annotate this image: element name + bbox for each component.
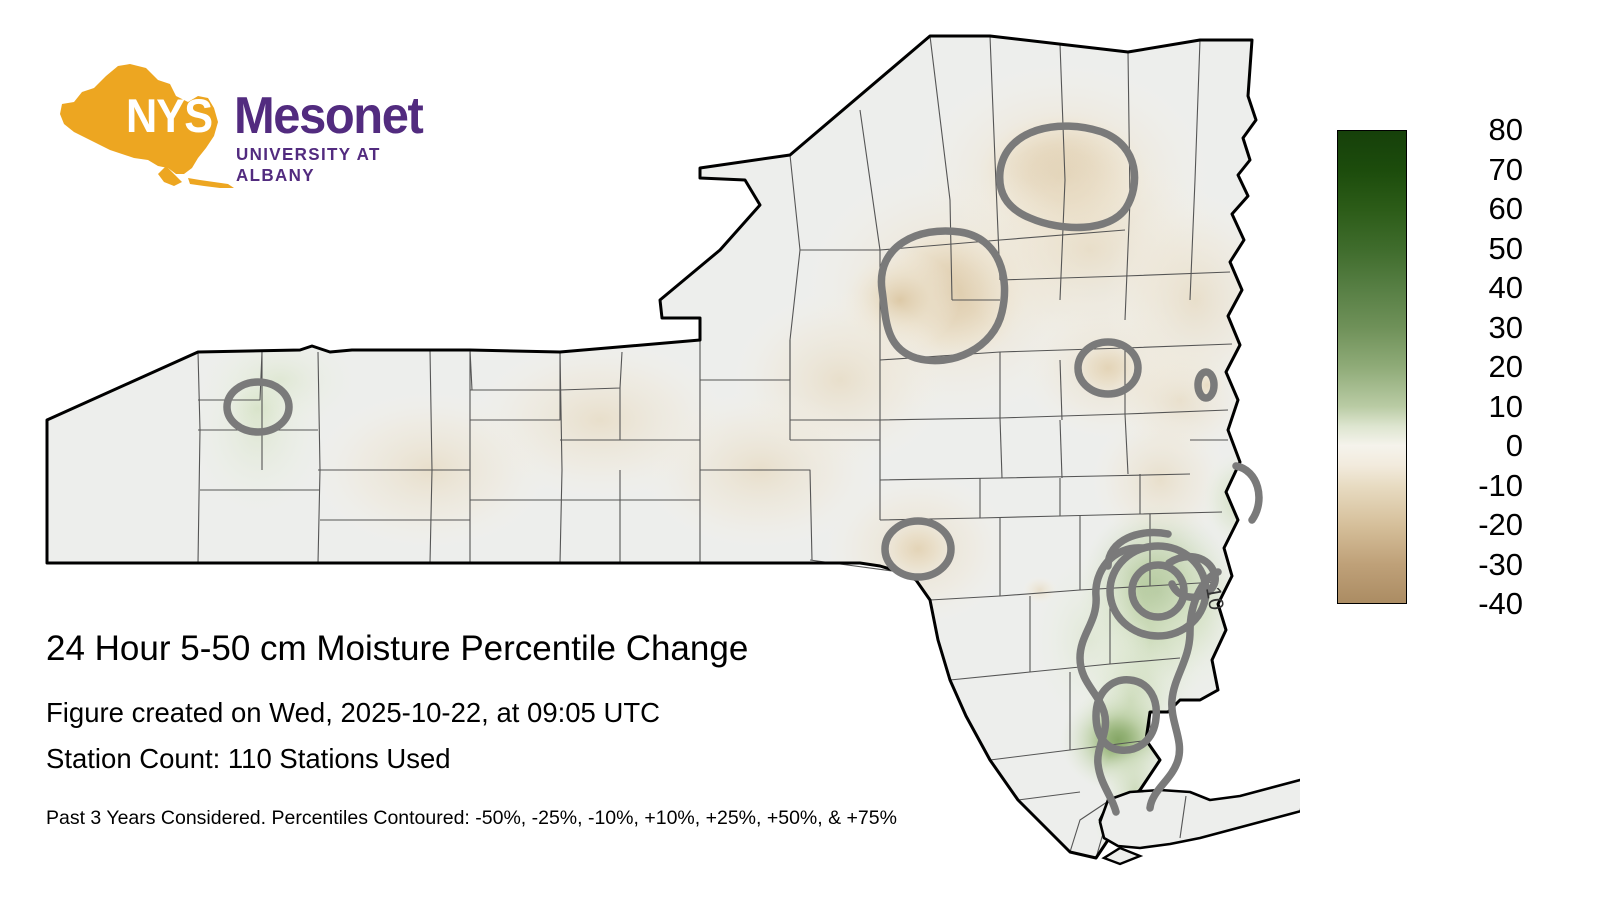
nys-mesonet-logo: NYS Mesonet UNIVERSITY AT ALBANY [48, 62, 398, 192]
colorbar-tick-60: 60 [1413, 193, 1523, 224]
logo-nys-text: NYS [126, 88, 212, 143]
colorbar-tick-80: 80 [1413, 114, 1523, 145]
colorbar-tick-labels: 80706050403020100-10-20-30-40 [1413, 119, 1537, 615]
colorbar-tick-neg40: -40 [1413, 588, 1523, 619]
colorbar: 80706050403020100-10-20-30-40 [1337, 119, 1537, 619]
colorbar-tick-30: 30 [1413, 312, 1523, 343]
logo-wordmark: NYS Mesonet UNIVERSITY AT ALBANY [126, 88, 398, 188]
colorbar-gradient [1337, 130, 1407, 604]
colorbar-tick-neg30: -30 [1413, 549, 1523, 580]
colorbar-tick-neg10: -10 [1413, 470, 1523, 501]
station-count-line: Station Count: 110 Stations Used [46, 742, 1126, 776]
colorbar-tick-neg20: -20 [1413, 509, 1523, 540]
logo-mesonet-text: Mesonet [234, 86, 422, 146]
colorbar-tick-70: 70 [1413, 154, 1523, 185]
colorbar-tick-20: 20 [1413, 351, 1523, 382]
colorbar-tick-10: 10 [1413, 391, 1523, 422]
contour-arc-columbia [1236, 466, 1259, 520]
contour-value-label: 10 [1201, 585, 1228, 612]
colorbar-tick-40: 40 [1413, 272, 1523, 303]
colorbar-tick-50: 50 [1413, 233, 1523, 264]
contour-label-group: 10 [1201, 585, 1228, 612]
contour-footnote: Past 3 Years Considered. Percentiles Con… [46, 806, 1126, 830]
colorbar-tick-0: 0 [1413, 430, 1523, 461]
figure-created-line: Figure created on Wed, 2025-10-22, at 09… [46, 696, 1126, 730]
map-title: 24 Hour 5-50 cm Moisture Percentile Chan… [46, 628, 1126, 670]
caption-block: 24 Hour 5-50 cm Moisture Percentile Chan… [46, 628, 1126, 830]
logo-university-text: UNIVERSITY AT ALBANY [236, 144, 393, 186]
